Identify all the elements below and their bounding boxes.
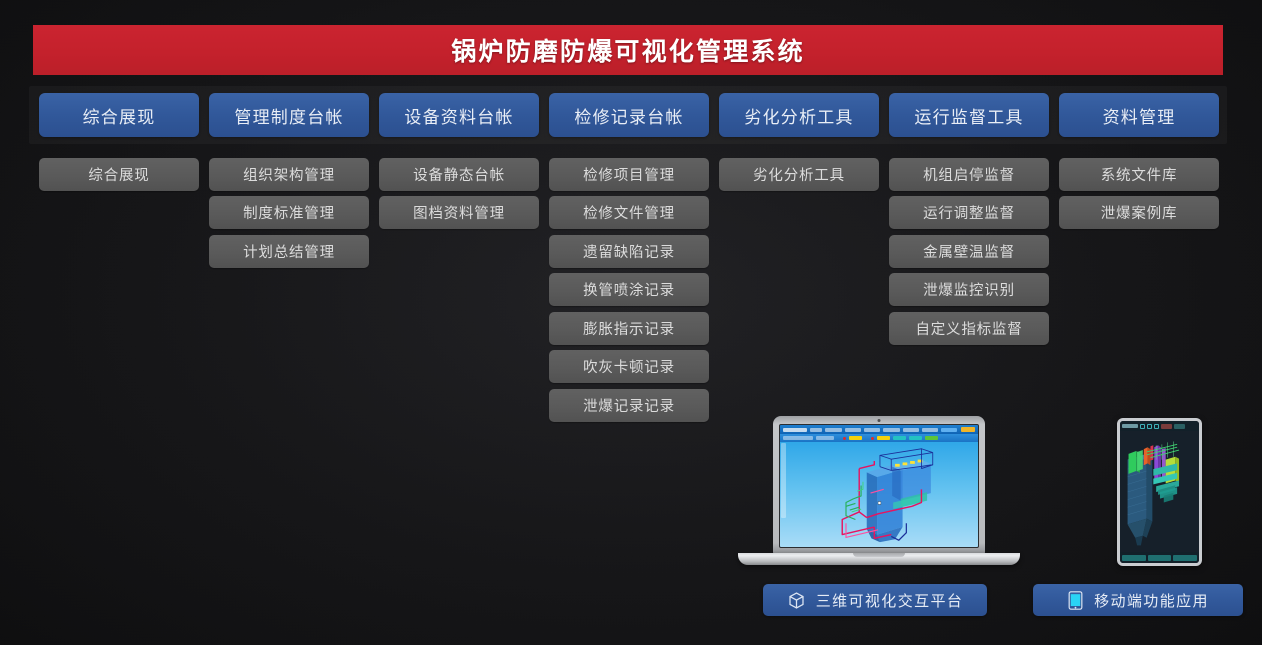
mobile-app-label: 移动端功能应用: [1094, 590, 1209, 611]
menu-item[interactable]: 吹灰卡顿记录: [549, 350, 709, 383]
mobile-toolbar-button: [1161, 424, 1172, 429]
mobile-layers-icon: [1140, 424, 1145, 429]
mobile-bottom-button: [1122, 555, 1146, 561]
menu-item[interactable]: 综合展现: [39, 158, 199, 191]
mobile-bottom-bar: [1120, 552, 1199, 563]
menu-item[interactable]: 劣化分析工具: [719, 158, 879, 191]
three-d-platform-button[interactable]: 三维可视化交互平台: [763, 584, 987, 616]
menu-item[interactable]: 图档资料管理: [379, 196, 539, 229]
menu-item[interactable]: 膨胀指示记录: [549, 312, 709, 345]
menu-column: 设备资料台帐设备静态台帐图档资料管理: [379, 93, 539, 422]
menu-item-label: 劣化分析工具: [753, 164, 845, 185]
mobile-image-icon: [1154, 424, 1159, 429]
menu-item[interactable]: 组织架构管理: [209, 158, 369, 191]
phone-screen[interactable]: [1120, 421, 1199, 563]
menu-item-label: 图档资料管理: [413, 202, 505, 223]
tab-label: 管理制度台帐: [234, 103, 343, 128]
mobile-toolbar-button: [1174, 424, 1185, 429]
menu-column: 劣化分析工具劣化分析工具: [719, 93, 879, 422]
mobile-move-icon: [1147, 424, 1152, 429]
viewer-menu-item-active: [941, 428, 957, 432]
menu-column: 综合展现综合展现: [39, 93, 199, 422]
laptop-base-notch: [853, 553, 905, 557]
menu-item-label: 自定义指标监督: [915, 318, 1022, 339]
tab-label: 运行监督工具: [914, 103, 1023, 128]
menu-item-label: 设备静态台帐: [413, 164, 505, 185]
tab-1[interactable]: 综合展现: [39, 93, 199, 137]
viewer-status-dot: [843, 437, 846, 440]
menu-column: 运行监督工具机组启停监督运行调整监督金属壁温监督泄爆监控识别自定义指标监督: [889, 93, 1049, 422]
viewer-toolbar-chip: [877, 436, 890, 440]
viewer-toolbar-chip: [893, 436, 906, 440]
menu-item[interactable]: 金属壁温监督: [889, 235, 1049, 268]
menu-column: 管理制度台帐组织架构管理制度标准管理计划总结管理: [209, 93, 369, 422]
menu-item[interactable]: 检修文件管理: [549, 196, 709, 229]
mobile-toolbar: [1120, 421, 1199, 431]
menu-item-label: 吹灰卡顿记录: [583, 356, 675, 377]
viewer-menu-item: [922, 428, 938, 432]
viewer-toolbar: [780, 434, 978, 442]
tab-6[interactable]: 运行监督工具: [889, 93, 1049, 137]
mobile-app-label: [1122, 424, 1138, 428]
viewer-menu-item: [903, 428, 919, 432]
tab-label: 检修记录台帐: [574, 103, 683, 128]
tab-label: 资料管理: [1103, 103, 1176, 128]
tab-label: 设备资料台帐: [404, 103, 513, 128]
menu-item-label: 组织架构管理: [243, 164, 335, 185]
tab-2[interactable]: 管理制度台帐: [209, 93, 369, 137]
mobile-bottom-button: [1148, 555, 1172, 561]
viewer-menu-item: [845, 428, 861, 432]
menu-item[interactable]: 检修项目管理: [549, 158, 709, 191]
navigation-columns: 综合展现综合展现管理制度台帐组织架构管理制度标准管理计划总结管理设备资料台帐设备…: [39, 93, 1219, 422]
menu-item-label: 运行调整监督: [923, 202, 1015, 223]
mobile-phone-icon: [1067, 591, 1084, 610]
laptop-camera-icon: [878, 419, 881, 422]
tab-7[interactable]: 资料管理: [1059, 93, 1219, 137]
viewer-status-dot: [871, 437, 874, 440]
boiler-3d-model: [780, 442, 978, 547]
menu-item[interactable]: 制度标准管理: [209, 196, 369, 229]
viewer-logo: [783, 428, 807, 432]
menu-item-label: 制度标准管理: [243, 202, 335, 223]
menu-item[interactable]: 设备静态台帐: [379, 158, 539, 191]
menu-item[interactable]: 泄爆监控识别: [889, 273, 1049, 306]
viewer-menu-item: [883, 428, 899, 432]
menu-item-label: 机组启停监督: [923, 164, 1015, 185]
laptop-lid: [773, 416, 985, 554]
menu-item[interactable]: 泄爆记录记录: [549, 389, 709, 422]
menu-item-label: 泄爆案例库: [1101, 202, 1178, 223]
menu-item-label: 检修项目管理: [583, 164, 675, 185]
tab-5[interactable]: 劣化分析工具: [719, 93, 879, 137]
menu-item-label: 遗留缺陷记录: [583, 241, 675, 262]
menu-item-label: 金属壁温监督: [923, 241, 1015, 262]
page-title-banner: 锅炉防磨防爆可视化管理系统: [33, 25, 1223, 75]
viewer-menu-item: [825, 428, 841, 432]
menu-item[interactable]: 机组启停监督: [889, 158, 1049, 191]
menu-column: 检修记录台帐检修项目管理检修文件管理遗留缺陷记录换管喷涂记录膨胀指示记录吹灰卡顿…: [549, 93, 709, 422]
menu-item[interactable]: 系统文件库: [1059, 158, 1219, 191]
viewer-user-badge: [961, 427, 976, 432]
viewer-toolbar-chip: [925, 436, 938, 440]
menu-item-label: 膨胀指示记录: [583, 318, 675, 339]
viewer-toolbar-field: [783, 436, 813, 440]
cube-icon: [787, 591, 806, 610]
menu-column: 资料管理系统文件库泄爆案例库: [1059, 93, 1219, 422]
viewer-3d-canvas[interactable]: [780, 442, 978, 547]
menu-item-label: 综合展现: [88, 164, 149, 185]
app-root: 锅炉防磨防爆可视化管理系统 综合展现综合展现管理制度台帐组织架构管理制度标准管理…: [0, 0, 1262, 645]
menu-item[interactable]: 计划总结管理: [209, 235, 369, 268]
laptop-mockup: [738, 416, 1020, 565]
menu-item-label: 泄爆记录记录: [583, 395, 675, 416]
menu-item[interactable]: 换管喷涂记录: [549, 273, 709, 306]
menu-item[interactable]: 遗留缺陷记录: [549, 235, 709, 268]
three-d-platform-label: 三维可视化交互平台: [816, 590, 964, 611]
laptop-base: [738, 553, 1020, 565]
menu-item[interactable]: 自定义指标监督: [889, 312, 1049, 345]
menu-item-label: 泄爆监控识别: [923, 279, 1015, 300]
tab-label: 综合展现: [83, 103, 156, 128]
phone-mockup: [1117, 418, 1202, 566]
viewer-menu-item: [810, 428, 823, 432]
menu-item-label: 换管喷涂记录: [583, 279, 675, 300]
mobile-bottom-button: [1173, 555, 1197, 561]
viewer-toolbar-chip: [909, 436, 922, 440]
tab-label: 劣化分析工具: [744, 103, 853, 128]
viewer-toolbar-field: [816, 436, 834, 440]
viewer-layer-panel: [781, 443, 786, 518]
viewer-toolbar-chip: [849, 436, 862, 440]
page-title: 锅炉防磨防爆可视化管理系统: [451, 32, 805, 68]
menu-item[interactable]: 运行调整监督: [889, 196, 1049, 229]
mobile-app-button[interactable]: 移动端功能应用: [1033, 584, 1243, 616]
viewer-menu-item: [864, 428, 880, 432]
viewer-header-bar: [780, 425, 978, 434]
menu-item-label: 计划总结管理: [243, 241, 335, 262]
menu-item[interactable]: 泄爆案例库: [1059, 196, 1219, 229]
menu-item-label: 检修文件管理: [583, 202, 675, 223]
mobile-boiler-3d-model: [1120, 431, 1199, 552]
laptop-screen[interactable]: [779, 424, 979, 548]
tab-3[interactable]: 设备资料台帐: [379, 93, 539, 137]
tab-4[interactable]: 检修记录台帐: [549, 93, 709, 137]
mobile-3d-canvas[interactable]: [1120, 431, 1199, 552]
menu-item-label: 系统文件库: [1101, 164, 1178, 185]
